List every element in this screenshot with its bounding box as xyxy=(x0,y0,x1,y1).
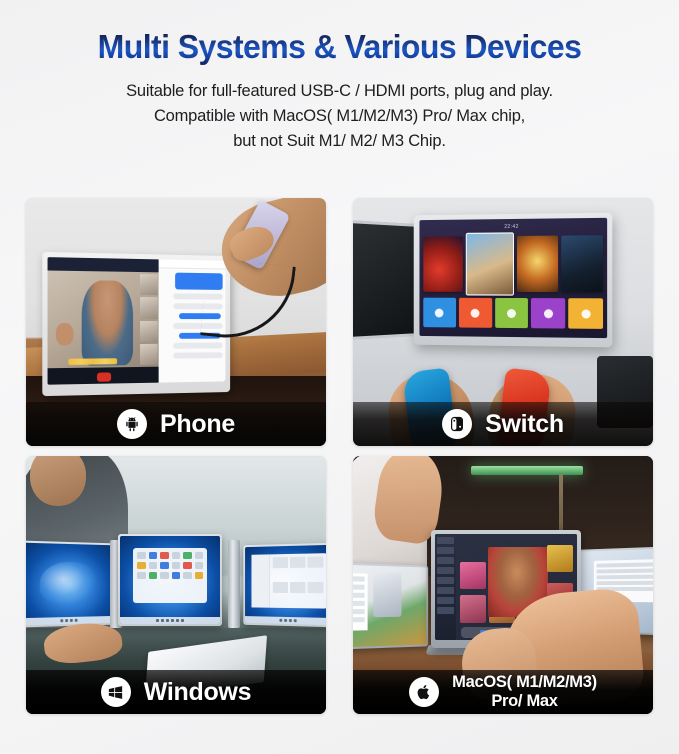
side-screen-left xyxy=(353,562,428,650)
panel-windows[interactable]: Windows xyxy=(26,456,326,714)
panel-phone[interactable]: Phone xyxy=(26,198,326,446)
panel-label-phone: Phone xyxy=(26,402,326,446)
usb-c-cable xyxy=(200,258,296,345)
product-feature-image: Multi Systems & Various Devices Suitable… xyxy=(0,0,679,754)
panel-label-text: MacOS( M1/M2/M3) Pro/ Max xyxy=(452,673,597,711)
nintendo-switch-icon xyxy=(442,409,472,439)
panel-switch[interactable]: 22:42 xyxy=(353,198,653,446)
device-panel-grid: Phone 22:42 xyxy=(26,198,653,714)
subtitle-line-2: Compatible with MacOS( M1/M2/M3) Pro/ Ma… xyxy=(0,104,679,129)
page-title: Multi Systems & Various Devices xyxy=(10,28,669,66)
windows-icon xyxy=(101,677,131,707)
light-bar xyxy=(471,466,583,475)
panel-macos[interactable]: MacOS( M1/M2/M3) Pro/ Max xyxy=(353,456,653,714)
switch-menu-tiles xyxy=(423,298,603,329)
switch-game-tiles xyxy=(423,235,603,292)
subtitle-block: Suitable for full-featured USB-C / HDMI … xyxy=(0,79,679,154)
side-screen-left xyxy=(26,541,114,628)
panel-label-text: Phone xyxy=(160,410,235,439)
header: Multi Systems & Various Devices Suitable… xyxy=(0,0,679,154)
subtitle-line-1: Suitable for full-featured USB-C / HDMI … xyxy=(0,79,679,104)
panel-label-windows: Windows xyxy=(26,670,326,714)
switch-clock: 22:42 xyxy=(423,221,603,232)
laptop-screen xyxy=(118,534,222,626)
macos-label-line-1: MacOS( M1/M2/M3) xyxy=(452,673,597,691)
android-icon xyxy=(117,409,147,439)
panel-label-switch: Switch xyxy=(353,402,653,446)
panel-label-text: Windows xyxy=(144,678,251,707)
portable-monitor: 22:42 xyxy=(414,213,613,348)
macos-label-line-2: Pro/ Max xyxy=(491,692,557,710)
apple-icon xyxy=(409,677,439,707)
panel-label-macos: MacOS( M1/M2/M3) Pro/ Max xyxy=(353,670,653,714)
subtitle-line-3: but not Suit M1/ M2/ M3 Chip. xyxy=(0,129,679,154)
side-screen-right xyxy=(243,543,326,628)
start-menu xyxy=(133,548,207,603)
panel-label-text: Switch xyxy=(485,410,564,439)
